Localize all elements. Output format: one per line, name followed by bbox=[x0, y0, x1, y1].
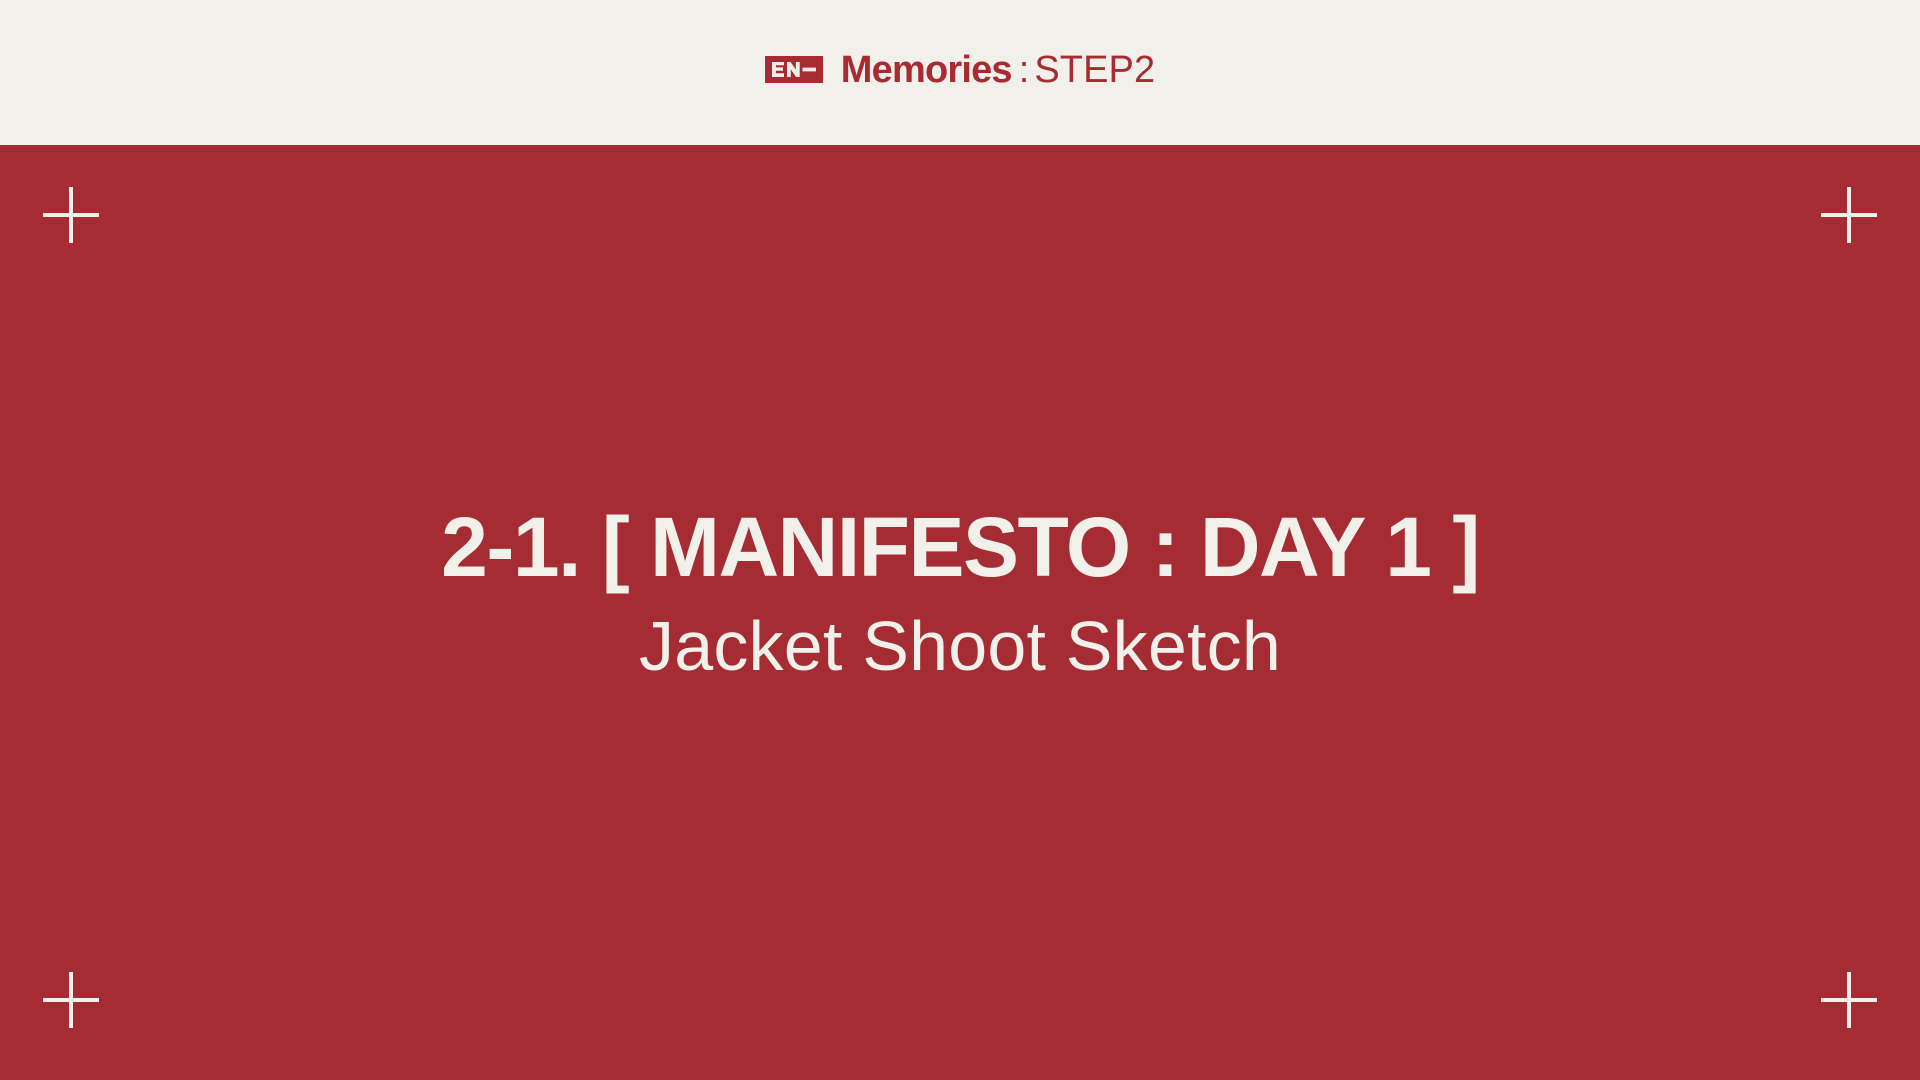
page-subtitle: Jacket Shoot Sketch bbox=[0, 611, 1920, 681]
header-title: Memories : STEP2 bbox=[841, 51, 1155, 89]
page-title: 2-1. [ MANIFESTO : DAY 1 ] bbox=[0, 505, 1920, 589]
enhypen-en-badge-icon bbox=[765, 56, 823, 83]
slide-root: Memories : STEP2 2-1. [ MANIFESTO : DAY … bbox=[0, 0, 1920, 1080]
title-block: 2-1. [ MANIFESTO : DAY 1 ] Jacket Shoot … bbox=[0, 505, 1920, 681]
crop-mark-bottom-right bbox=[1821, 972, 1877, 1028]
brand-label: Memories bbox=[841, 51, 1012, 89]
step-label: STEP2 bbox=[1034, 51, 1155, 89]
crop-mark-top-left bbox=[43, 187, 99, 243]
header-content: Memories : STEP2 bbox=[765, 51, 1155, 89]
crop-mark-top-right bbox=[1821, 187, 1877, 243]
header-separator: : bbox=[1019, 51, 1030, 89]
header-band: Memories : STEP2 bbox=[0, 0, 1920, 145]
crop-mark-bottom-left bbox=[43, 972, 99, 1028]
